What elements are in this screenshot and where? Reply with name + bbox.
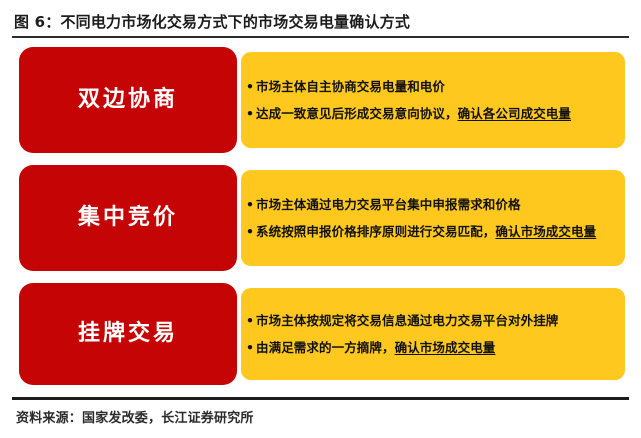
diagram-row: 双边协商 市场主体自主协商交易电量和电价 达成一致意见后形成交易意向协议，确认各… — [0, 47, 641, 153]
bullet-text: 市场主体自主协商交易电量和电价 — [256, 79, 445, 94]
bullet-text: 市场主体按规定将交易信息通过电力交易平台对外挂牌 — [256, 313, 558, 328]
bullet-item: 由满足需求的一方摘牌，确认市场成交电量 — [245, 336, 615, 359]
bullet-emphasis: 确认市场成交电量 — [395, 340, 496, 355]
bullet-emphasis: 确认市场成交电量 — [495, 224, 596, 239]
bullet-list: 市场主体自主协商交易电量和电价 达成一致意见后形成交易意向协议，确认各公司成交电… — [245, 75, 615, 125]
row-label-text: 挂牌交易 — [78, 321, 178, 347]
footer-divider — [12, 397, 629, 400]
bullet-item: 系统按照申报价格排序原则进行交易匹配，确认市场成交电量 — [245, 220, 615, 243]
bullet-list: 市场主体按规定将交易信息通过电力交易平台对外挂牌 由满足需求的一方摘牌，确认市场… — [245, 309, 615, 359]
bullet-item: 达成一致意见后形成交易意向协议，确认各公司成交电量 — [245, 102, 615, 125]
bullet-item: 市场主体按规定将交易信息通过电力交易平台对外挂牌 — [245, 309, 615, 332]
row-label-text: 集中竞价 — [78, 205, 178, 231]
row-content-box-listed-trading: 市场主体按规定将交易信息通过电力交易平台对外挂牌 由满足需求的一方摘牌，确认市场… — [241, 288, 625, 380]
bullet-item: 市场主体通过电力交易平台集中申报需求和价格 — [245, 193, 615, 216]
source-note: 资料来源：国家发改委，长江证券研究所 — [16, 409, 254, 429]
bullet-text: 由满足需求的一方摘牌， — [256, 340, 395, 355]
bullet-text: 系统按照申报价格排序原则进行交易匹配， — [256, 224, 495, 239]
bullet-emphasis: 确认各公司成交电量 — [458, 106, 571, 121]
figure-title: 图 6：不同电力市场化交易方式下的市场交易电量确认方式 — [14, 11, 626, 33]
title-divider — [12, 36, 629, 38]
bullet-list: 市场主体通过电力交易平台集中申报需求和价格 系统按照申报价格排序原则进行交易匹配… — [245, 193, 615, 243]
row-label-box-listed-trading: 挂牌交易 — [19, 283, 237, 385]
row-content-box-centralized-bidding: 市场主体通过电力交易平台集中申报需求和价格 系统按照申报价格排序原则进行交易匹配… — [241, 170, 625, 266]
bullet-text: 达成一致意见后形成交易意向协议， — [256, 106, 458, 121]
row-label-box-centralized-bidding: 集中竞价 — [19, 165, 237, 271]
diagram-row: 集中竞价 市场主体通过电力交易平台集中申报需求和价格 系统按照申报价格排序原则进… — [0, 165, 641, 271]
row-content-box-bilateral-negotiation: 市场主体自主协商交易电量和电价 达成一致意见后形成交易意向协议，确认各公司成交电… — [241, 52, 625, 148]
figure-container: 图 6：不同电力市场化交易方式下的市场交易电量确认方式 双边协商 市场主体自主协… — [0, 0, 641, 438]
bullet-text: 市场主体通过电力交易平台集中申报需求和价格 — [256, 197, 521, 212]
bullet-item: 市场主体自主协商交易电量和电价 — [245, 75, 615, 98]
diagram-row: 挂牌交易 市场主体按规定将交易信息通过电力交易平台对外挂牌 由满足需求的一方摘牌… — [0, 283, 641, 385]
row-label-box-bilateral-negotiation: 双边协商 — [19, 47, 237, 153]
row-label-text: 双边协商 — [78, 87, 178, 113]
